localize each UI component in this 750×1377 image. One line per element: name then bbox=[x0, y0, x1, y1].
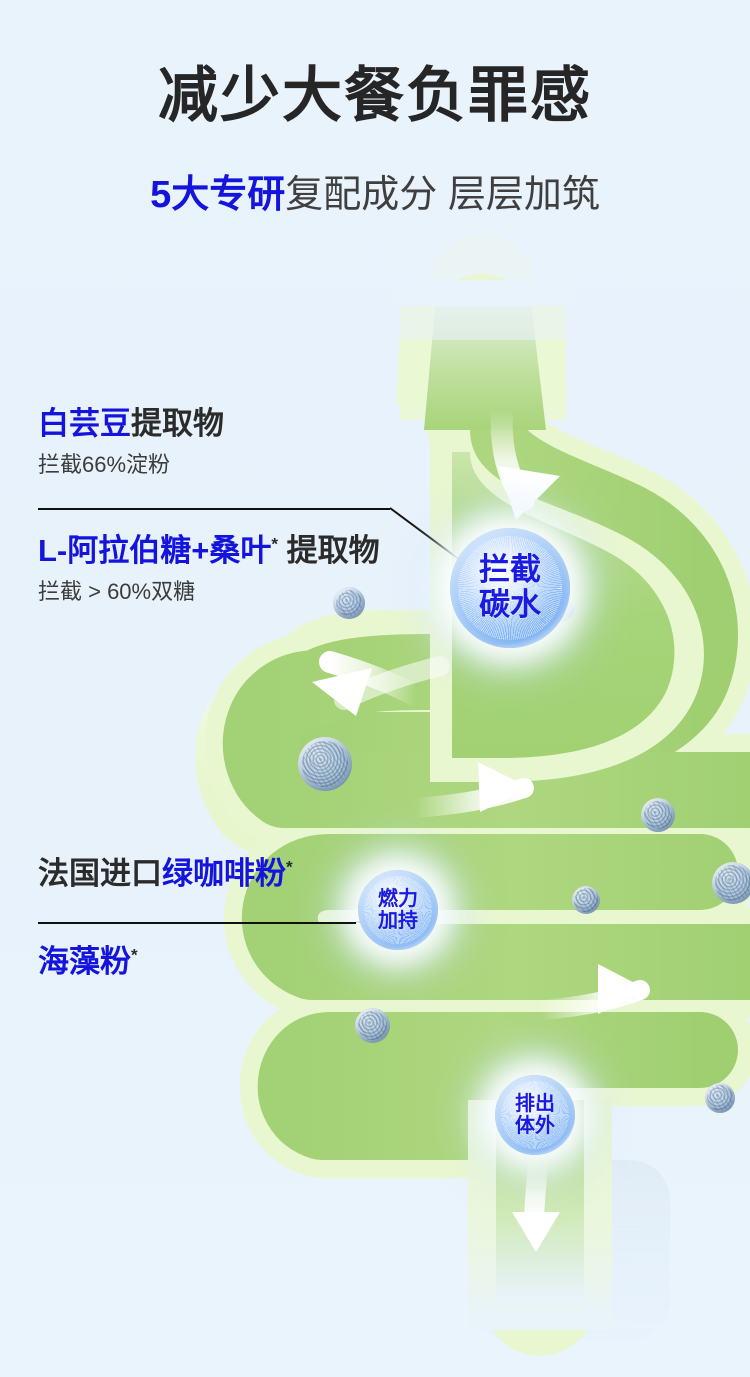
particle bbox=[641, 798, 675, 832]
particle bbox=[705, 1083, 735, 1113]
ingredient-white-kidney-bean: 白芸豆提取物 拦截66%淀粉 bbox=[38, 405, 224, 479]
particle bbox=[712, 862, 750, 904]
ingredient-title: 法国进口绿咖啡粉* bbox=[38, 855, 293, 892]
ingredient-desc: 拦截 > 60%双糖 bbox=[38, 579, 380, 605]
badge-burn-support: 燃力 加持 bbox=[358, 870, 438, 950]
particle bbox=[298, 737, 352, 791]
badge-carbs-text: 拦截 碳水 bbox=[479, 553, 541, 622]
divider-line-top bbox=[38, 508, 390, 510]
ingredient-title: 海藻粉* bbox=[38, 943, 138, 980]
ingredient-seaweed-powder: 海藻粉* bbox=[38, 943, 138, 980]
badge-block-carbs: 拦截 碳水 bbox=[450, 528, 570, 648]
ingredient-l-arabinose-mulberry: L-阿拉伯糖+桑叶* 提取物 拦截 > 60%双糖 bbox=[38, 532, 380, 606]
divider-line-bottom bbox=[38, 922, 356, 924]
ingredient-title: 白芸豆提取物 bbox=[38, 405, 224, 442]
badge-burn-text: 燃力 加持 bbox=[378, 888, 418, 933]
badge-excrete: 排出 体外 bbox=[495, 1075, 575, 1155]
particle bbox=[355, 1008, 390, 1043]
ingredient-desc: 拦截66%淀粉 bbox=[38, 452, 224, 478]
ingredient-green-coffee: 法国进口绿咖啡粉* bbox=[38, 855, 293, 892]
product-infographic-page: 减少大餐负罪感 5大专研复配成分 层层加筑 bbox=[0, 0, 750, 1377]
digestive-tract-diagram bbox=[0, 0, 750, 1377]
ingredient-title: L-阿拉伯糖+桑叶* 提取物 bbox=[38, 532, 380, 569]
particle bbox=[572, 886, 600, 914]
badge-out-text: 排出 体外 bbox=[515, 1093, 555, 1138]
